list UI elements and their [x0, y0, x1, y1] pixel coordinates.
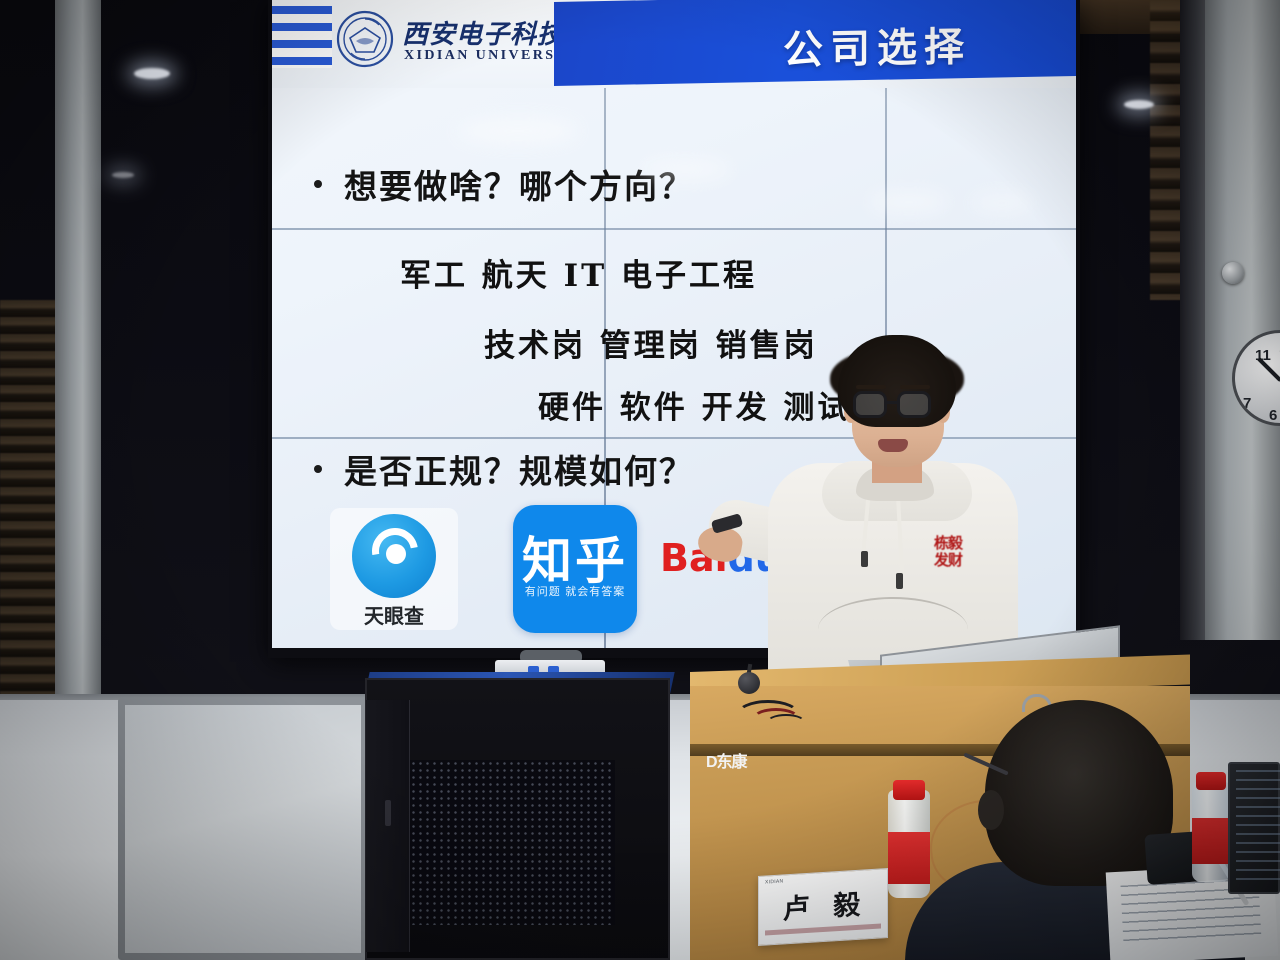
pillar-right — [1205, 0, 1280, 640]
equipment-rack-door[interactable] — [366, 700, 410, 952]
slide-bullet-2: 是否正规？规模如何？ — [314, 445, 694, 493]
slide-bullet-2-text: 是否正规？规模如何？ — [344, 445, 694, 493]
slide-bullet-1-text: 想要做啥？哪个方向？ — [344, 160, 694, 208]
wood-slat-wall-left — [0, 300, 58, 720]
name-plate-logo: XIDIAN — [765, 878, 783, 885]
pillar-right-edge — [1180, 0, 1208, 640]
tianyancha-label: 天眼查 — [336, 600, 452, 629]
slide-title: 公司选择 — [712, 13, 1042, 77]
water-bottle-2-label — [1192, 818, 1230, 864]
slide-line-1: 军工 航天 IT 电子工程 — [400, 250, 757, 295]
bullet-dot-icon — [314, 465, 322, 473]
presenter-aglet-right — [896, 573, 903, 589]
presenter-brow-right — [900, 385, 930, 389]
presenter-brow-left — [856, 385, 886, 389]
equipment-rack-latch[interactable] — [385, 800, 391, 826]
water-bottle-1-label — [888, 832, 930, 884]
screen-glare-4 — [972, 194, 1032, 212]
name-plate-name: 卢 毅 — [773, 882, 877, 927]
clock-number-7: 7 — [1243, 395, 1251, 412]
hoodie-graphic-text: 栋毅发财 — [926, 535, 970, 571]
slide-bullet-1: 想要做啥？哪个方向？ — [314, 160, 694, 208]
ceiling-light-3 — [112, 172, 134, 178]
slide-header-stripes — [272, 6, 332, 68]
glasses-bridge-icon — [885, 401, 899, 404]
slide-header: 西安电子科技大学 XIDIAN UNIVERSITY 公司选择 — [272, 0, 1076, 88]
water-bottle-2-cap — [1196, 772, 1226, 790]
clock-number-6: 6 — [1269, 407, 1277, 424]
microphone[interactable] — [738, 672, 760, 694]
ceiling-light-1 — [134, 68, 170, 79]
whiteboard-panel[interactable] — [118, 698, 368, 960]
panel-seam-horizontal-1 — [272, 228, 1076, 230]
ceiling-light-2 — [1124, 100, 1154, 109]
audience-ear — [978, 790, 1004, 830]
presenter-mouth — [878, 439, 908, 452]
lecture-hall-photo: 12 11 7 6 5 西安电子科 — [0, 0, 1280, 960]
equipment-rack-mesh — [410, 760, 615, 925]
presenter-aglet-left — [861, 551, 868, 567]
tianyancha-mark-icon — [352, 514, 436, 598]
pillar-left — [55, 0, 101, 700]
whiteboard-knob[interactable] — [1222, 262, 1244, 284]
glasses-lens-right-icon — [897, 391, 931, 418]
tianyancha-logo: 天眼查 — [330, 508, 458, 630]
cable-3 — [766, 714, 806, 732]
zhihu-tagline: 有问题 就会有答案 — [513, 583, 637, 599]
name-plate: XIDIAN 卢 毅 — [758, 868, 888, 946]
zhihu-logo: 知乎 有问题 就会有答案 — [513, 505, 637, 633]
podium-brand-logo: D东康 — [706, 748, 747, 772]
bullet-dot-icon — [314, 180, 322, 188]
tablet-screen[interactable] — [1236, 770, 1280, 882]
audience-head — [985, 700, 1173, 886]
xidian-seal-icon — [334, 8, 396, 70]
screen-glare-1 — [458, 118, 578, 144]
water-bottle-1-cap — [893, 780, 925, 800]
glasses-lens-left-icon — [853, 391, 887, 418]
screen-glare-3 — [870, 192, 948, 212]
